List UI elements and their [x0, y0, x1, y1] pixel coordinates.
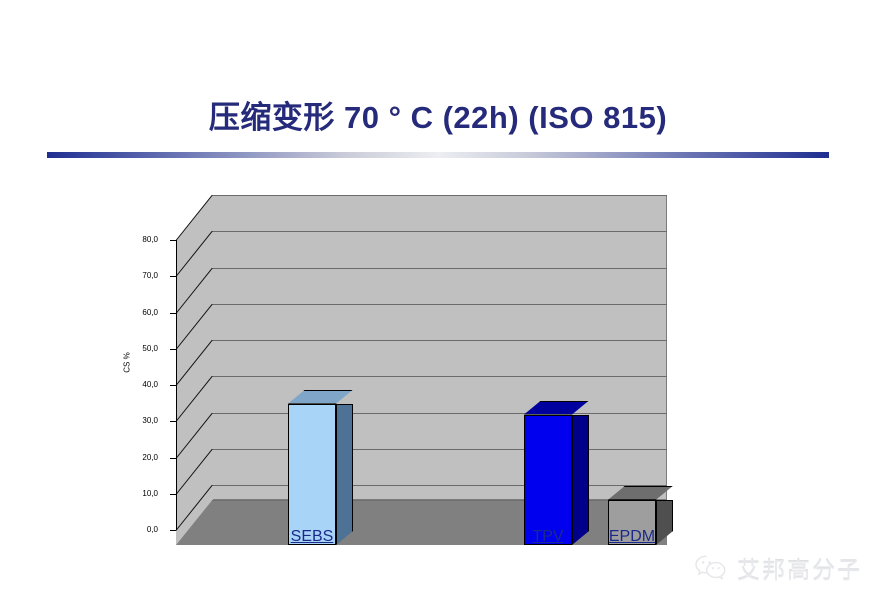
y-tick-mark [170, 458, 176, 459]
gridline [212, 231, 667, 232]
y-tick-label: 30,0 [142, 417, 158, 425]
gridline [212, 449, 667, 450]
bar-chart: 0,010,020,030,040,050,060,070,080,0 CS %… [120, 180, 680, 560]
watermark: 艾邦高分子 [694, 551, 862, 585]
page-title: 压缩变形 70 ° C (22h) (ISO 815) [0, 92, 876, 137]
y-tick-label: 80,0 [142, 236, 158, 244]
bar-side-face [336, 404, 353, 545]
plot-back-wall [212, 195, 667, 500]
wechat-logo-icon [694, 553, 728, 583]
y-tick-mark [170, 494, 176, 495]
y-axis-line [176, 240, 177, 530]
gridline [212, 340, 667, 341]
bar-front-face [288, 404, 336, 545]
y-tick-mark [170, 385, 176, 386]
gridline [212, 485, 667, 486]
bar-side-face [572, 415, 589, 546]
plot-left-wall [176, 195, 213, 545]
y-tick-label: 70,0 [142, 272, 158, 280]
y-tick-label: 40,0 [142, 381, 158, 389]
watermark-text: 艾邦高分子 [737, 551, 862, 585]
gridline [212, 195, 667, 196]
gridline [212, 376, 667, 377]
y-tick-mark [170, 349, 176, 350]
category-label-epdm: EPDM [582, 528, 682, 546]
gridline [212, 268, 667, 269]
bar-tpv [524, 415, 572, 546]
y-tick-label: 50,0 [142, 345, 158, 353]
bar-sebs [288, 404, 336, 545]
y-tick-label: 20,0 [142, 454, 158, 462]
y-tick-mark [170, 530, 176, 531]
plot-floor-back-edge [212, 500, 668, 501]
title-divider [47, 152, 829, 158]
y-tick-mark [170, 240, 176, 241]
gridline [212, 304, 667, 305]
y-tick-mark [170, 276, 176, 277]
y-tick-mark [170, 421, 176, 422]
gridline [212, 413, 667, 414]
bar-front-face [524, 415, 572, 546]
y-tick-label: 10,0 [142, 490, 158, 498]
y-tick-mark [170, 313, 176, 314]
y-tick-label: 60,0 [142, 309, 158, 317]
y-axis-title: CS % [123, 352, 132, 372]
y-tick-label: 0,0 [147, 526, 158, 534]
category-label-sebs: SEBS [262, 528, 362, 546]
